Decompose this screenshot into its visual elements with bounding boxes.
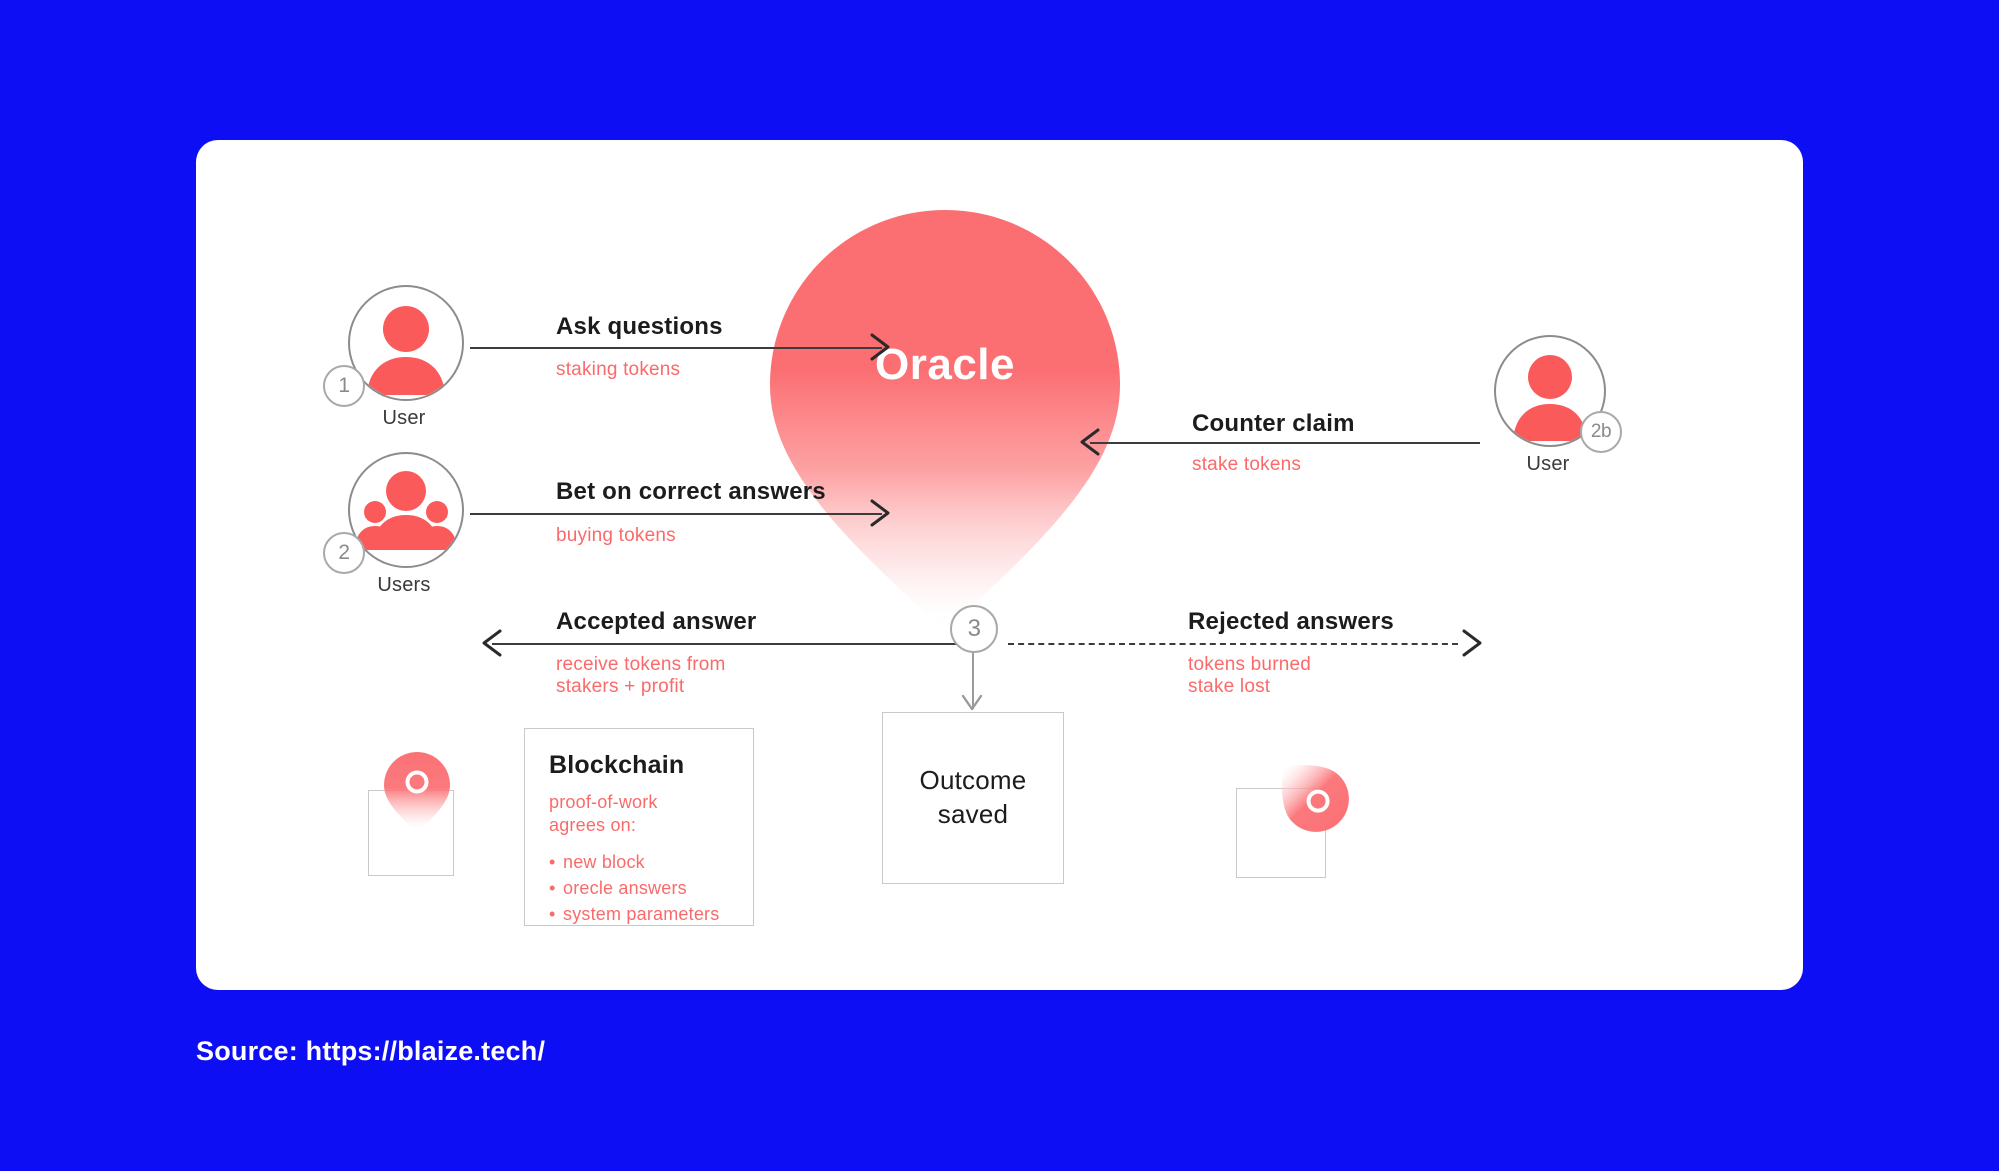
arrowhead-left-icon [478,627,508,659]
blockchain-bullet-list: new block orecle answers system paramete… [549,849,719,927]
blockchain-subtitle: proof-of-work agrees on: [549,791,658,836]
arrowhead-right-icon [864,331,894,363]
flow-title: Ask questions [556,313,723,341]
flow-sub: buying tokens [556,524,676,547]
flow-sub: stake tokens [1192,453,1301,476]
list-item: system parameters [549,901,719,927]
avatar-ring [348,452,464,568]
users-group-icon [350,454,462,566]
flow-sub-line2: stakers + profit [556,675,684,698]
flow-sub-line1: tokens burned [1188,653,1311,676]
blockchain-subtitle-line2: agrees on: [549,815,636,835]
avatar-ring [348,285,464,401]
outcome-saved-box: Outcome saved [882,712,1064,884]
step-badge-2b: 2b [1580,411,1622,453]
flow-title: Rejected answers [1188,608,1394,636]
blockchain-title: Blockchain [549,751,684,780]
flow-arrow-line [492,643,958,645]
deco-right [1236,752,1366,882]
outcome-line1: Outcome [920,764,1027,798]
flow-sub: staking tokens [556,358,680,381]
step-badge-2: 2 [323,532,365,574]
step-badge-3: 3 [950,605,998,653]
flow-arrow-line [470,513,882,515]
list-item: orecle answers [549,875,719,901]
flow-sub-line2: stake lost [1188,675,1270,698]
arrowhead-right-icon [864,497,894,529]
oracle-pin: Oracle [770,210,1120,630]
step-badge-1: 1 [323,365,365,407]
flow-title: Counter claim [1192,410,1355,438]
list-item: new block [549,849,719,875]
oracle-pin-shape [770,210,1120,630]
node-user-1: 1 User [348,285,468,405]
user-icon [350,287,462,399]
node-caption: User [1448,453,1648,476]
blockchain-box: Blockchain proof-of-work agrees on: new … [524,728,754,926]
outcome-line2: saved [938,798,1008,832]
source-label: Source: https://blaize.tech/ [196,1036,545,1067]
node-caption: User [304,407,504,430]
blockchain-subtitle-line1: proof-of-work [549,792,658,812]
flow-title: Bet on correct answers [556,478,826,506]
flow-sub-line1: receive tokens from [556,653,726,676]
arrowhead-left-icon [1076,426,1106,458]
node-caption: Users [304,574,504,597]
flow-arrow-line [1008,643,1458,645]
arrowhead-right-icon [1456,627,1486,659]
flow-arrow-line [1090,442,1480,444]
node-user-2b: 2b User [1494,335,1610,451]
flow-arrow-line [470,347,882,349]
outcome-text: Outcome saved [883,713,1063,883]
node-users-2: 2 Users [348,452,468,572]
flow-title: Accepted answer [556,608,756,636]
map-pin-ring-icon [384,752,450,832]
deco-left [368,752,478,882]
